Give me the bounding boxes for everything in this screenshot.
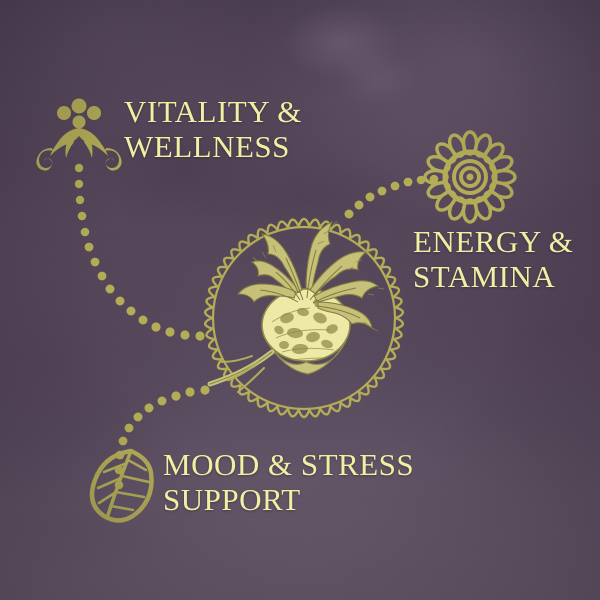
benefit-label-vitality: VITALITY & WELLNESS [124,94,302,164]
infographic-canvas: VITALITY & WELLNESS ENERGY & STAMINA MOO… [0,0,600,600]
benefit-label-mood: MOOD & STRESS SUPPORT [163,447,414,517]
benefit-label-energy: ENERGY & STAMINA [413,224,573,294]
